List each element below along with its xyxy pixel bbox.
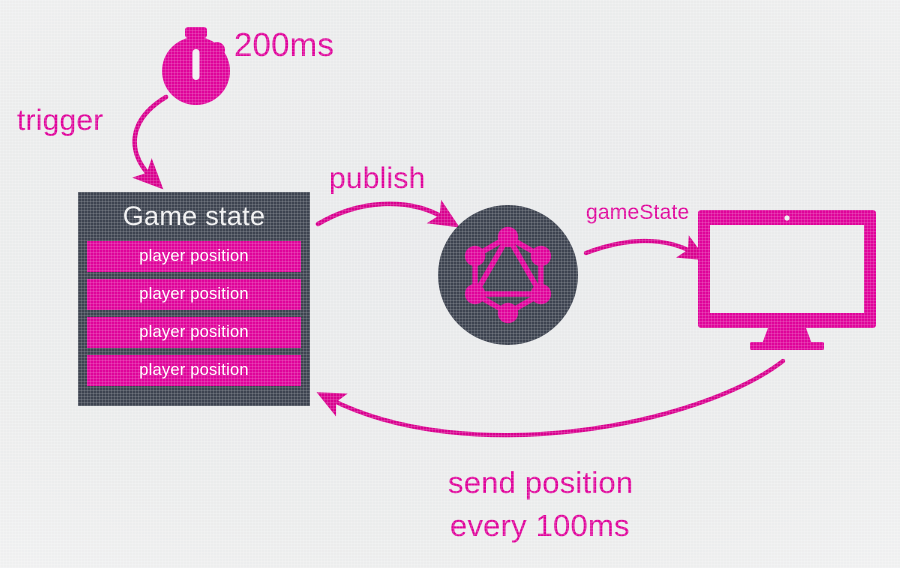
game-state-title: Game state (87, 198, 301, 234)
player-position-row: player position (87, 241, 301, 272)
publish-arrow (318, 204, 446, 224)
send-position-arrow (330, 361, 783, 435)
graphql-logo-icon (438, 205, 578, 345)
monitor-icon (698, 205, 876, 350)
trigger-arrow (135, 97, 166, 178)
diagram-canvas: Game state player position player positi… (0, 0, 900, 568)
stopwatch-icon (162, 27, 230, 105)
player-position-row: player position (87, 355, 301, 386)
graphql-node (438, 205, 578, 345)
game-state-box: Game state player position player positi… (78, 192, 310, 406)
gamestate-arrow (586, 241, 694, 253)
trigger-label: trigger (17, 104, 103, 138)
send-position-label-line1: send position (448, 465, 633, 501)
gamestate-label: gameState (586, 201, 689, 225)
player-position-row: player position (87, 279, 301, 310)
publish-label: publish (329, 162, 425, 196)
player-position-row: player position (87, 317, 301, 348)
send-position-label-line2: every 100ms (450, 508, 630, 544)
timer-label: 200ms (234, 26, 334, 64)
